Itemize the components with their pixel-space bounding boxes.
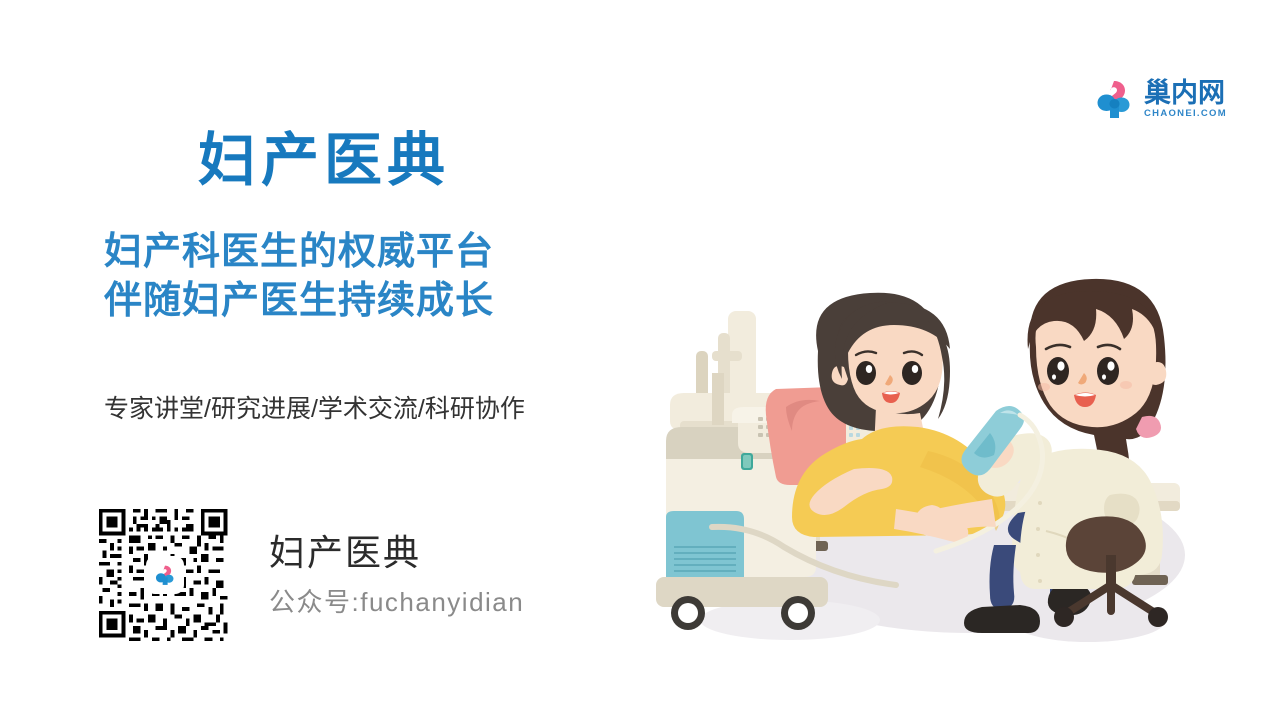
brand-logo[interactable]: 巢内网 CHAONEI.COM: [1090, 70, 1232, 128]
qr-code[interactable]: [95, 505, 235, 645]
brand-name-en: CHAONEI.COM: [1144, 109, 1227, 119]
chaonei-butterfly-logo-icon: [1090, 75, 1138, 123]
subtitle-block: 妇产科医生的权威平台 伴随妇产医生持续成长: [104, 228, 494, 325]
promotional-poster: 巢内网 CHAONEI.COM 妇产医典 妇产科医生的权威平台 伴随妇产医生持续…: [0, 0, 1280, 720]
qr-block: 妇产医典 公众号:fuchanyidian: [95, 505, 524, 645]
brand-wordmark: 巢内网 CHAONEI.COM: [1144, 80, 1227, 119]
subtitle-line-1: 妇产科医生的权威平台: [104, 228, 494, 277]
illustration-svg: [640, 255, 1260, 675]
page-title: 妇产医典: [198, 132, 450, 190]
fuchanyidian-app-icon: [151, 561, 179, 589]
subtitle-line-2: 伴随妇产医生持续成长: [104, 277, 494, 326]
account-name: 妇产医典: [269, 531, 524, 574]
prenatal-ultrasound-illustration: [640, 255, 1260, 675]
qr-center-logo: [148, 558, 182, 592]
tagline: 专家讲堂/研究进展/学术交流/科研协作: [104, 389, 525, 425]
qr-text: 妇产医典 公众号:fuchanyidian: [269, 531, 524, 619]
account-id: 公众号:fuchanyidian: [269, 582, 524, 619]
brand-name-cn: 巢内网: [1144, 80, 1227, 107]
